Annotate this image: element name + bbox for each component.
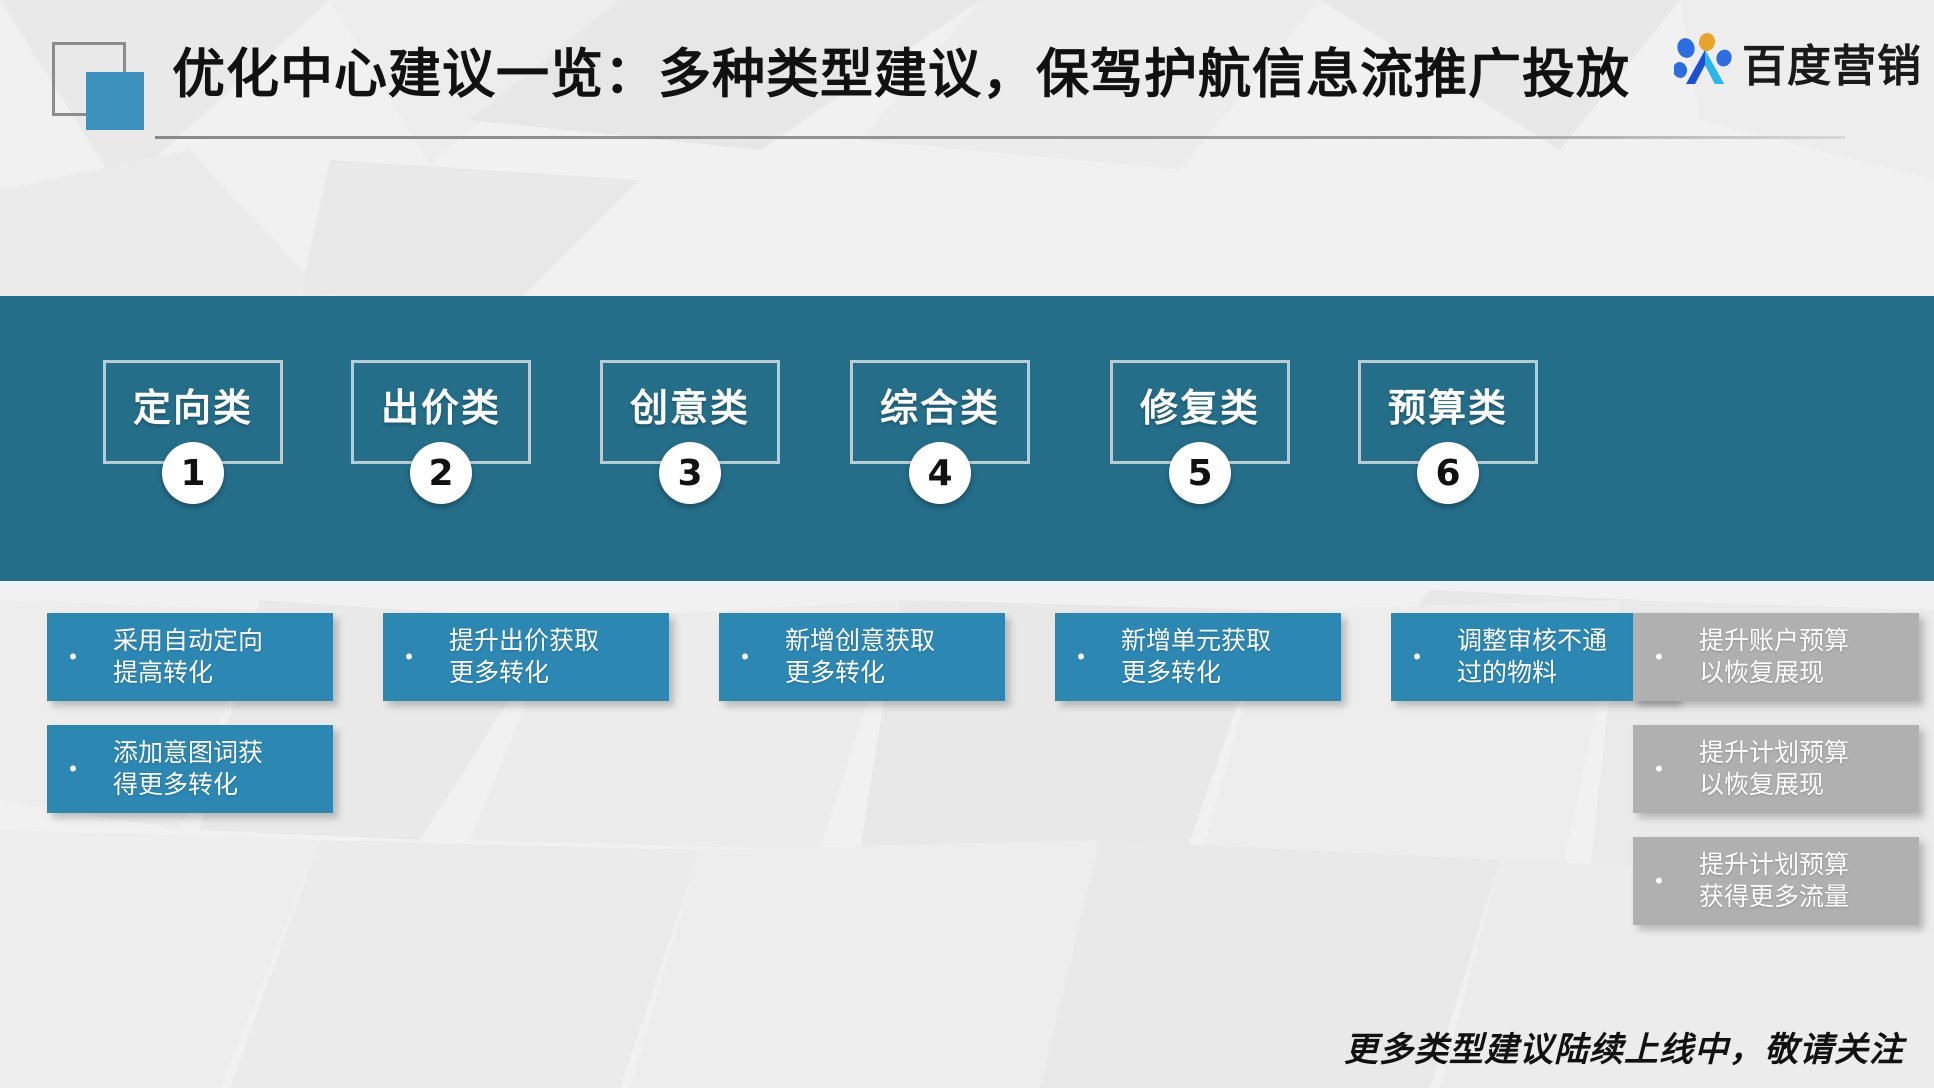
recommendation-card[interactable]: •提升出价获取 更多转化 (383, 613, 669, 701)
logo-wordmark: 百度营销 (1742, 30, 1922, 94)
recommendation-column-出价类: •提升出价获取 更多转化 (383, 613, 669, 725)
recommendation-card[interactable]: •提升账户预算 以恢复展现 (1633, 613, 1919, 701)
category-box-3[interactable]: 创意类3 (600, 360, 780, 464)
category-box-5[interactable]: 修复类5 (1110, 360, 1290, 464)
recommendation-card-text: 提升计划预算 获得更多流量 (1677, 849, 1909, 913)
recommendation-card[interactable]: •新增单元获取 更多转化 (1055, 613, 1341, 701)
recommendation-column-定向类: •采用自动定向 提高转化•添加意图词获 得更多转化 (47, 613, 333, 837)
recommendation-card[interactable]: •提升计划预算 以恢复展现 (1633, 725, 1919, 813)
category-number-badge: 1 (162, 442, 224, 504)
bullet-icon: • (1069, 646, 1093, 668)
recommendation-column-创意类: •新增创意获取 更多转化 (719, 613, 1005, 725)
recommendation-card[interactable]: •采用自动定向 提高转化 (47, 613, 333, 701)
category-label: 综合类 (853, 377, 1027, 432)
category-label: 预算类 (1361, 377, 1535, 432)
category-label: 创意类 (603, 377, 777, 432)
category-number-badge: 3 (659, 442, 721, 504)
baidu-bear-paw-logo-icon (1674, 32, 1736, 86)
footer-note: 更多类型建议陆续上线中，敬请关注 (1344, 1022, 1904, 1071)
recommendation-card-text: 采用自动定向 提高转化 (91, 625, 323, 689)
category-box-1[interactable]: 定向类1 (103, 360, 283, 464)
recommendation-card[interactable]: •新增创意获取 更多转化 (719, 613, 1005, 701)
category-label: 出价类 (354, 377, 528, 432)
category-number-badge: 4 (909, 442, 971, 504)
category-label: 定向类 (106, 377, 280, 432)
bullet-icon: • (397, 646, 421, 668)
page-header: 优化中心建议一览：多种类型建议，保驾护航信息流推广投放 百度营销 (0, 0, 1934, 170)
bullet-icon: • (1647, 870, 1671, 892)
category-number-badge: 5 (1169, 442, 1231, 504)
category-box-6[interactable]: 预算类6 (1358, 360, 1538, 464)
category-box-4[interactable]: 综合类4 (850, 360, 1030, 464)
bullet-icon: • (1647, 758, 1671, 780)
category-number-badge: 6 (1417, 442, 1479, 504)
title-underline-rule (155, 136, 1845, 139)
bullet-icon: • (1405, 646, 1429, 668)
baidu-marketing-logo: 百度营销 (1674, 28, 1912, 90)
recommendation-card-text: 提升出价获取 更多转化 (427, 625, 659, 689)
category-label: 修复类 (1113, 377, 1287, 432)
bullet-icon: • (1647, 646, 1671, 668)
recommendation-card-text: 提升账户预算 以恢复展现 (1677, 625, 1909, 689)
bullet-icon: • (61, 758, 85, 780)
recommendation-card-text: 提升计划预算 以恢复展现 (1677, 737, 1909, 801)
recommendation-card[interactable]: •提升计划预算 获得更多流量 (1633, 837, 1919, 925)
recommendation-card-text: 新增单元获取 更多转化 (1099, 625, 1331, 689)
recommendation-card-text: 添加意图词获 得更多转化 (91, 737, 323, 801)
recommendation-column-预算类: •提升账户预算 以恢复展现•提升计划预算 以恢复展现•提升计划预算 获得更多流量 (1633, 613, 1919, 949)
recommendation-card-text: 新增创意获取 更多转化 (763, 625, 995, 689)
recommendation-card[interactable]: •添加意图词获 得更多转化 (47, 725, 333, 813)
recommendation-column-综合类: •新增单元获取 更多转化 (1055, 613, 1341, 725)
bullet-icon: • (733, 646, 757, 668)
category-number-badge: 2 (410, 442, 472, 504)
page-title: 优化中心建议一览：多种类型建议，保驾护航信息流推广投放 (172, 32, 1630, 108)
square-solid-decor-icon (86, 72, 144, 130)
category-box-2[interactable]: 出价类2 (351, 360, 531, 464)
bullet-icon: • (61, 646, 85, 668)
